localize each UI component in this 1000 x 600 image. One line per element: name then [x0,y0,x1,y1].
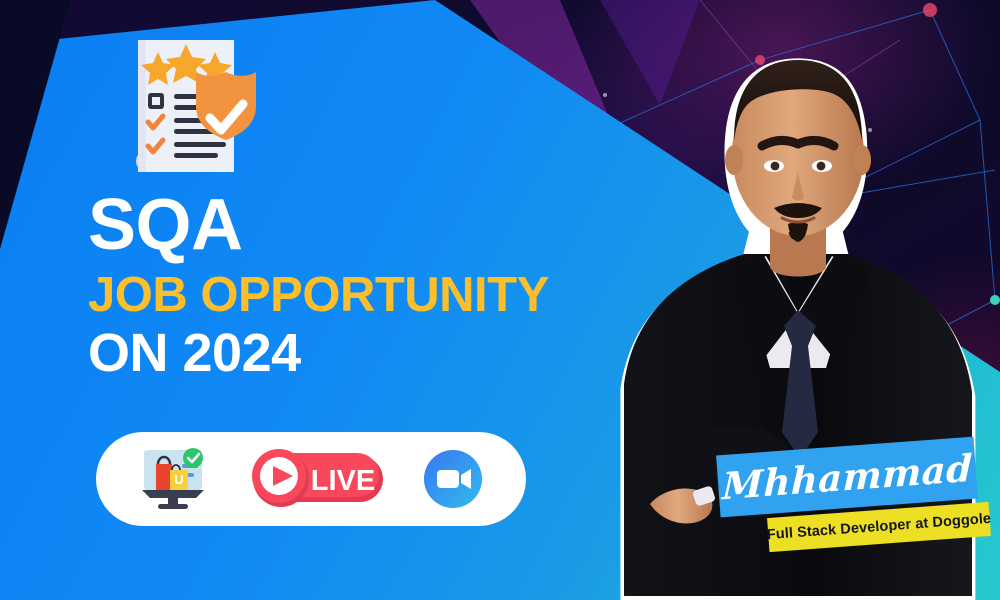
live-badge-icon: LIVE [241,448,391,510]
icon-pill-bar: U LIVE [96,432,526,526]
ecommerce-monitor-slot[interactable]: U [138,446,210,512]
checklist-document-icon [118,30,268,180]
live-label: LIVE [311,465,375,497]
speaker-name: Mhhammad [721,446,973,509]
ecommerce-monitor-icon: U [138,446,210,512]
live-badge-slot[interactable]: LIVE [241,448,391,510]
svg-text:U: U [174,472,183,487]
zoom-video-slot[interactable] [422,448,484,510]
zoom-video-icon [422,448,484,510]
promo-banner: SQA JOB OPPORTUNITY ON 2024 U [0,0,1000,600]
